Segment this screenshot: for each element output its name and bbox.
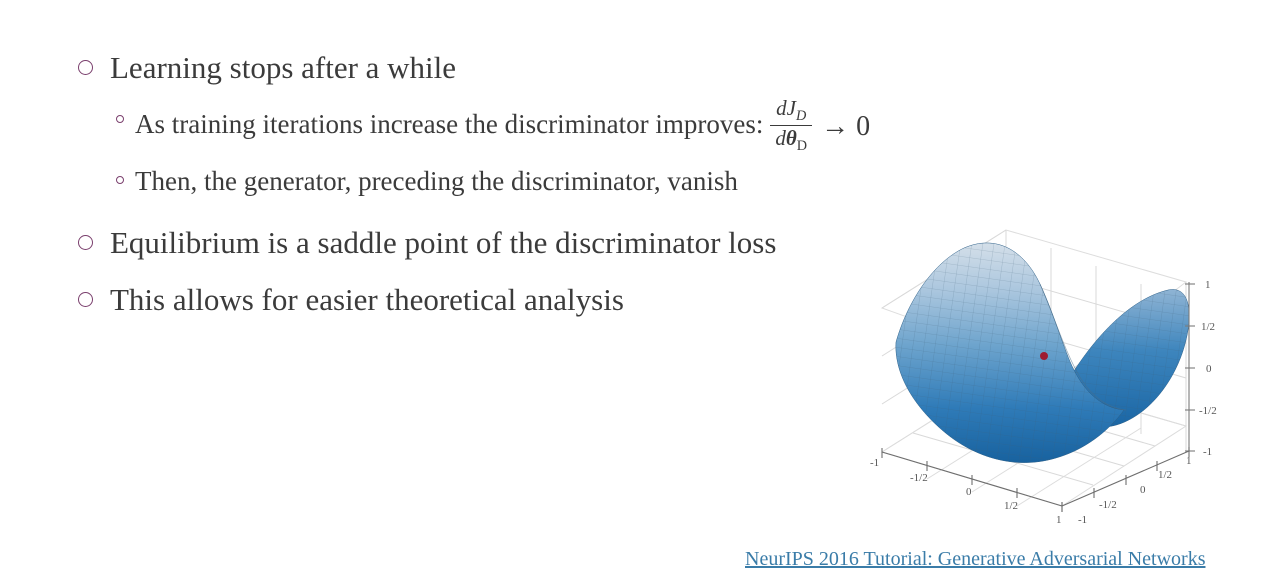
- bullet-text: Learning stops after a while: [110, 44, 456, 92]
- y-tick-label: 1/2: [1158, 469, 1172, 481]
- bullet-text: This allows for easier theoretical analy…: [110, 276, 624, 324]
- source-link[interactable]: NeurIPS 2016 Tutorial: Generative Advers…: [745, 548, 1205, 571]
- bullet-circle-icon: [78, 235, 93, 250]
- list-item: Learning stops after a while: [78, 44, 1138, 92]
- fraction-denominator: dθD: [770, 125, 812, 154]
- saddle-surface-plot: 1 1/2 0 -1/2 -1 -1 -1/2 0 1/2 1: [856, 196, 1256, 536]
- x-tick-label: 1/2: [1004, 500, 1018, 512]
- z-tick-label: -1/2: [1199, 405, 1217, 417]
- bullet-text-with-formula: As training iterations increase the disc…: [135, 98, 870, 155]
- x-tick-label: -1: [870, 457, 879, 469]
- y-tick-label: -1/2: [1099, 499, 1117, 511]
- y-tick-label: 0: [1140, 484, 1146, 496]
- y-tick-label: -1: [1078, 514, 1087, 526]
- z-tick-label: 0: [1206, 363, 1212, 375]
- formula-relation: → 0: [821, 105, 870, 149]
- denominator-subscript: D: [797, 138, 807, 154]
- fraction-numerator: dJD: [771, 97, 811, 125]
- numerator-variable: J: [787, 96, 796, 120]
- bullet-small-circle-icon: [116, 115, 124, 123]
- bullet-circle-icon: [78, 292, 93, 307]
- slide-canvas: Learning stops after a while As training…: [0, 0, 1280, 578]
- bullet-text: Then, the generator, preceding the discr…: [135, 159, 738, 203]
- denominator-d: d: [775, 126, 786, 150]
- bullet-text: As training iterations increase the disc…: [135, 109, 763, 139]
- list-item: As training iterations increase the disc…: [116, 98, 1138, 155]
- formula-derivative: dJDdθD→ 0: [770, 98, 870, 155]
- denominator-theta: θ: [786, 126, 797, 150]
- y-axis: -1 -1/2 0 1/2 1: [1062, 447, 1192, 526]
- x-tick-label: -1/2: [910, 472, 928, 484]
- saddle-surface-svg: 1 1/2 0 -1/2 -1 -1 -1/2 0 1/2 1: [856, 196, 1256, 536]
- bullet-circle-icon: [78, 60, 93, 75]
- x-tick-label: 1: [1056, 514, 1062, 526]
- saddle-point-marker: [1040, 352, 1048, 360]
- y-tick-label: 1: [1186, 455, 1192, 467]
- z-tick-label: 1: [1205, 279, 1211, 291]
- x-tick-label: 0: [966, 486, 972, 498]
- numerator-subscript: D: [796, 108, 806, 124]
- numerator-d: d: [776, 96, 787, 120]
- bullet-small-circle-icon: [116, 176, 124, 184]
- bullet-text: Equilibrium is a saddle point of the dis…: [110, 219, 776, 267]
- z-tick-label: -1: [1203, 446, 1212, 458]
- z-tick-label: 1/2: [1201, 321, 1215, 333]
- z-axis: 1 1/2 0 -1/2 -1: [1185, 279, 1217, 458]
- fraction: dJDdθD: [770, 97, 812, 154]
